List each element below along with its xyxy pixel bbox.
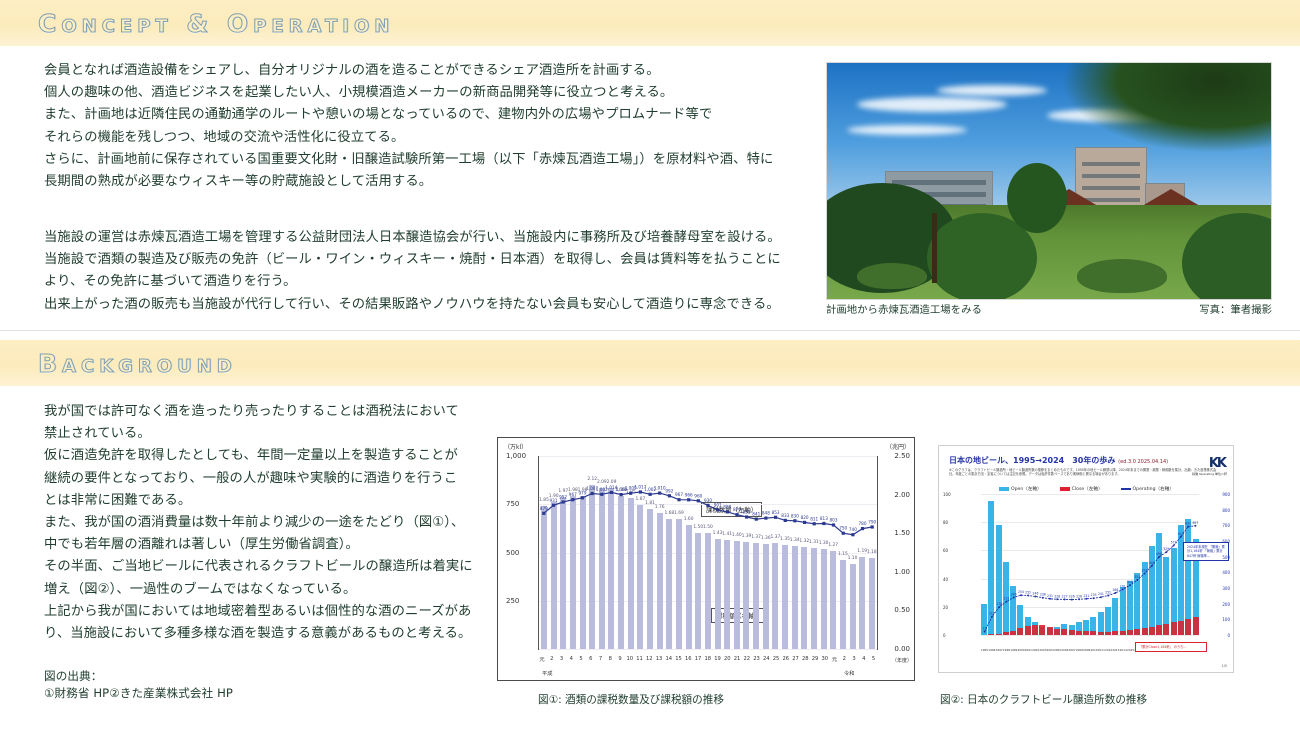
chart2-xtick: 2009 xyxy=(1083,648,1089,652)
chart2-xtick: 1995 xyxy=(981,648,987,652)
chart2-subtitle-note: ※このグラフは、クラフトビール醸造所・地ビール醸造所数の推移をまとめたものです。… xyxy=(949,468,1221,477)
svg-text:1,010: 1,010 xyxy=(654,486,666,491)
svg-text:235: 235 xyxy=(1091,593,1097,597)
chart2-xtick: 2012 xyxy=(1105,648,1111,652)
svg-text:879: 879 xyxy=(540,506,548,511)
chart1-ytick-left: 1,000 xyxy=(506,452,526,460)
chart2-xtick: 2011 xyxy=(1098,648,1104,652)
chart2-xtick: 2000 xyxy=(1017,648,1023,652)
chart1-ytick-right: 1.50 xyxy=(894,529,910,537)
chart1-xtick: 元 xyxy=(538,656,546,663)
svg-text:813: 813 xyxy=(820,516,828,521)
chart2-footer: 1/5 xyxy=(1222,664,1227,668)
svg-text:830: 830 xyxy=(791,513,799,518)
chart1-xtick: 8 xyxy=(606,656,614,662)
chart1-xtick: 14 xyxy=(665,656,673,662)
concept-paragraph-1: 会員となれば酒造設備をシェアし、自分オリジナルの酒を造ることができるシェア酒造所… xyxy=(44,60,834,193)
svg-text:213: 213 xyxy=(1003,597,1009,601)
chart1-xtick: 30 xyxy=(821,656,829,662)
svg-text:697: 697 xyxy=(1192,521,1198,525)
svg-text:571: 571 xyxy=(1171,541,1177,545)
chart2-plot-area: 2211717821324025425224623823122822722622… xyxy=(981,494,1199,636)
svg-text:833: 833 xyxy=(781,513,789,518)
chart2-xtick: 2006 xyxy=(1061,648,1067,652)
chart1-xtick: 6 xyxy=(587,656,595,662)
chart1-ytick-left: 750 xyxy=(506,500,519,508)
chart2-caption: 図②: 日本のクラフトビール醸造所数の推移 xyxy=(940,692,1147,707)
chart2-legend-operating: Operating（右軸） xyxy=(1121,486,1174,492)
chart2-ytick-left: 20 xyxy=(943,605,948,610)
chart1-xtick: 17 xyxy=(694,656,702,662)
chart1-xtick: 3 xyxy=(558,656,566,662)
site-photo xyxy=(826,62,1272,300)
svg-text:841: 841 xyxy=(752,512,760,517)
chart1-xtick: 25 xyxy=(772,656,780,662)
svg-text:627: 627 xyxy=(1178,532,1184,536)
chart1-ytick-right: 1.00 xyxy=(894,568,910,576)
chart1-ytick-right: 0.50 xyxy=(894,606,910,614)
chart2-annotation-close: 「累計Close1,164軒」 のうち... xyxy=(1135,642,1207,652)
svg-text:960: 960 xyxy=(694,493,702,498)
chart1-xtick: 20 xyxy=(723,656,731,662)
chart2-xtick: 2010 xyxy=(1090,648,1096,652)
svg-text:231: 231 xyxy=(1083,594,1089,598)
svg-text:441: 441 xyxy=(1149,561,1155,565)
chart2-title-edition: (ed.3.0 2025.04.14) xyxy=(1118,459,1168,465)
photo-shrub xyxy=(857,263,927,289)
chart1-xtick: 11 xyxy=(636,656,644,662)
section-banner-concept: Concept & Operation xyxy=(0,0,1300,46)
svg-text:178: 178 xyxy=(996,602,1002,606)
svg-text:228: 228 xyxy=(1054,594,1060,598)
svg-text:351: 351 xyxy=(1134,575,1140,579)
photo-credit: 写真：筆者撮影 xyxy=(1199,301,1272,316)
svg-text:931: 931 xyxy=(550,498,558,503)
photo-caption-row: 計画地から赤煉瓦酒造工場をみる 写真：筆者撮影 xyxy=(826,301,1272,316)
chart1-gridline xyxy=(539,649,877,650)
chart2-ytick-right: 600 xyxy=(1222,539,1230,544)
chart1-xtick: 2 xyxy=(548,656,556,662)
svg-text:992: 992 xyxy=(665,488,673,493)
chart1-xtick: 29 xyxy=(811,656,819,662)
chart1-x-axis: 元234567891011121314151617181920212223242… xyxy=(538,656,878,666)
chart1-x-unit: （年度） xyxy=(892,657,912,664)
svg-text:392: 392 xyxy=(1142,569,1148,573)
chart2-xtick: 1998 xyxy=(1003,648,1009,652)
chart1-xtick: 27 xyxy=(792,656,800,662)
chart2-gridline xyxy=(981,635,1199,636)
chart1-xtick: 4 xyxy=(567,656,575,662)
svg-text:252: 252 xyxy=(1105,591,1111,595)
chart1-caption: 図①: 酒類の課税数量及び課税額の推移 xyxy=(538,692,724,707)
svg-text:241: 241 xyxy=(1098,592,1104,596)
concept-paragraph-2: 当施設の運営は赤煉瓦酒造工場を管理する公益財団法人日本醸造協会が行い、当施設内に… xyxy=(44,227,824,316)
chart1-ytick-right: 2.50 xyxy=(894,452,910,460)
chart2-xtick: 2002 xyxy=(1032,648,1038,652)
chart2-legend-close: Close（左軸） xyxy=(1060,486,1103,492)
svg-text:226: 226 xyxy=(1069,595,1075,599)
chart2-title-text: 日本の地ビール、1995→2024 30年の歩み xyxy=(949,456,1115,465)
svg-text:750: 750 xyxy=(839,526,847,531)
chart2-ytick-right: 300 xyxy=(1222,586,1230,591)
svg-text:820: 820 xyxy=(801,515,809,520)
svg-text:967: 967 xyxy=(569,492,577,497)
chart2-legend: Open（左軸） Close（左軸） Operating（右軸） xyxy=(999,486,1174,492)
svg-text:780: 780 xyxy=(859,521,867,526)
background-paragraph: 我が国では許可なく酒を造ったり売ったりすることは酒税法において 禁止されている。… xyxy=(44,401,494,645)
chart1-xtick: 5 xyxy=(870,656,878,662)
chart2-ytick-left: 80 xyxy=(943,520,948,525)
svg-text:966: 966 xyxy=(685,492,693,497)
svg-text:888: 888 xyxy=(723,504,731,509)
chart1-xtick: 4 xyxy=(860,656,868,662)
chart1-line-series: 8799319529679791,0071,0021,0141,0001,009… xyxy=(539,456,877,649)
chart1-xtick: 21 xyxy=(733,656,741,662)
svg-text:848: 848 xyxy=(762,511,770,516)
photo-cloud xyxy=(847,125,967,135)
photo-foreground-leaves xyxy=(1061,62,1272,153)
photo-shrub xyxy=(1077,259,1167,293)
chart1-xtick: 23 xyxy=(753,656,761,662)
svg-text:318: 318 xyxy=(1127,580,1133,584)
chart2-xtick: 2007 xyxy=(1069,648,1075,652)
chart2-ytick-right: 900 xyxy=(1222,492,1230,497)
chart1-xtick: 22 xyxy=(743,656,751,662)
chart2-ytick-right: 700 xyxy=(1222,523,1230,528)
svg-text:291: 291 xyxy=(1120,584,1126,588)
chart1-xtick: 10 xyxy=(626,656,634,662)
section-title-background: Background xyxy=(38,349,237,378)
chart-tax-volume-amount: （万kl） （兆円） 課税数量（左軸） 課税額（右軸） 1.851.901.97… xyxy=(497,437,915,681)
chart2-ytick-left: 100 xyxy=(943,492,951,497)
chart2-ytick-left: 40 xyxy=(943,577,948,582)
chart1-xtick: 26 xyxy=(782,656,790,662)
chart2-xtick: 2015 xyxy=(1127,648,1133,652)
chart1-xtick: 5 xyxy=(577,656,585,662)
chart1-ytick-right: 0.00 xyxy=(894,645,910,653)
svg-text:952: 952 xyxy=(559,495,567,500)
svg-text:870: 870 xyxy=(733,507,741,512)
svg-text:855: 855 xyxy=(743,510,751,515)
svg-text:117: 117 xyxy=(989,612,995,616)
svg-text:240: 240 xyxy=(1011,592,1017,596)
chart1-xtick: 19 xyxy=(714,656,722,662)
svg-text:231: 231 xyxy=(1047,594,1053,598)
chart1-xtick: 9 xyxy=(616,656,624,662)
svg-text:238: 238 xyxy=(1040,593,1046,597)
chart1-ytick-right: 2.00 xyxy=(894,491,910,499)
background-source-note: 図の出典： ①財務省 HP②きた産業株式会社 HP xyxy=(44,668,464,702)
chart2-title: 日本の地ビール、1995→2024 30年の歩み (ed.3.0 2025.04… xyxy=(949,455,1168,466)
chart1-xtick: 2 xyxy=(840,656,848,662)
chart2-xtick: 2014 xyxy=(1120,648,1126,652)
svg-text:930: 930 xyxy=(704,498,712,503)
chart2-ytick-right: 800 xyxy=(1222,508,1230,513)
chart1-plot-area: 課税数量（左軸） 課税額（右軸） 1.851.901.971.981.982.1… xyxy=(538,456,878,650)
svg-text:811: 811 xyxy=(810,516,818,521)
section-banner-background: Background xyxy=(0,340,1300,386)
svg-text:246: 246 xyxy=(1033,592,1039,596)
chart2-logo-sub: 稼働 Operating 単位＝軒 xyxy=(1192,472,1227,476)
svg-text:979: 979 xyxy=(579,490,587,495)
chart2-xtick: 2001 xyxy=(1025,648,1031,652)
chart2-xtick: 2005 xyxy=(1054,648,1060,652)
chart2-xtick: 2004 xyxy=(1047,648,1053,652)
chart2-logo: KK xyxy=(1209,456,1225,471)
chart2-line-series: 2211717821324025425224623823122822722622… xyxy=(981,494,1199,635)
svg-text:268: 268 xyxy=(1112,588,1118,592)
chart2-xtick: 1999 xyxy=(1010,648,1016,652)
chart2-ytick-left: 60 xyxy=(943,548,948,553)
chart2-ytick-right: 500 xyxy=(1222,555,1230,560)
svg-text:790: 790 xyxy=(868,520,876,525)
chart1-right-unit: （兆円） xyxy=(886,442,910,451)
chart2-ytick-right: 200 xyxy=(1222,602,1230,607)
photo-caption: 計画地から赤煉瓦酒造工場をみる xyxy=(826,301,982,316)
svg-text:803: 803 xyxy=(830,518,838,523)
chart1-xtick: 28 xyxy=(801,656,809,662)
section-title-concept: Concept & Operation xyxy=(38,9,394,38)
svg-text:740: 740 xyxy=(849,527,857,532)
chart2-ytick-left: 0 xyxy=(943,633,946,638)
chart-craft-brewery-count: 日本の地ビール、1995→2024 30年の歩み (ed.3.0 2025.04… xyxy=(938,445,1234,673)
chart2-xtick: 1997 xyxy=(996,648,1002,652)
chart1-xtick: 13 xyxy=(655,656,663,662)
svg-text:22: 22 xyxy=(983,627,987,631)
chart1-era-reiwa: 令和 xyxy=(844,670,854,677)
chart1-xtick: 16 xyxy=(684,656,692,662)
chart1-xtick: 12 xyxy=(645,656,653,662)
chart1-ytick-left: 500 xyxy=(506,549,519,557)
chart1-xtick: 元 xyxy=(831,656,839,663)
chart1-xtick: 18 xyxy=(704,656,712,662)
chart2-ytick-right: 0 xyxy=(1227,633,1230,638)
chart2-xtick: 2003 xyxy=(1039,648,1045,652)
section-divider xyxy=(0,330,1300,331)
photo-tree xyxy=(1007,163,1067,233)
svg-text:228: 228 xyxy=(1076,594,1082,598)
chart1-xtick: 7 xyxy=(597,656,605,662)
chart2-xtick: 2008 xyxy=(1076,648,1082,652)
chart1-era-heisei: 平成 xyxy=(542,670,552,677)
svg-text:692: 692 xyxy=(1185,522,1191,526)
svg-text:853: 853 xyxy=(772,510,780,515)
chart2-ytick-right: 100 xyxy=(1222,617,1230,622)
svg-text:227: 227 xyxy=(1062,594,1068,598)
photo-tree-trunk xyxy=(932,213,937,283)
chart1-xtick: 24 xyxy=(762,656,770,662)
svg-text:254: 254 xyxy=(1018,590,1024,594)
chart1-ytick-left: 250 xyxy=(506,597,519,605)
chart2-xtick: 1996 xyxy=(988,648,994,652)
svg-text:252: 252 xyxy=(1025,591,1031,595)
svg-text:529: 529 xyxy=(1163,547,1169,551)
photo-cloud xyxy=(857,97,1007,112)
chart2-ytick-right: 400 xyxy=(1222,570,1230,575)
slide-page: Concept & Operation 会員となれば酒造設備をシェアし、自分オリ… xyxy=(0,0,1300,731)
svg-text:498: 498 xyxy=(1156,552,1162,556)
chart1-left-unit: （万kl） xyxy=(504,442,527,451)
svg-text:967: 967 xyxy=(675,492,683,497)
chart1-xtick: 3 xyxy=(850,656,858,662)
chart1-xtick: 15 xyxy=(675,656,683,662)
chart2-xtick: 2013 xyxy=(1112,648,1118,652)
svg-text:901: 901 xyxy=(714,502,722,507)
photo-cloud xyxy=(937,85,1047,96)
chart2-legend-open: Open（左軸） xyxy=(999,486,1042,492)
